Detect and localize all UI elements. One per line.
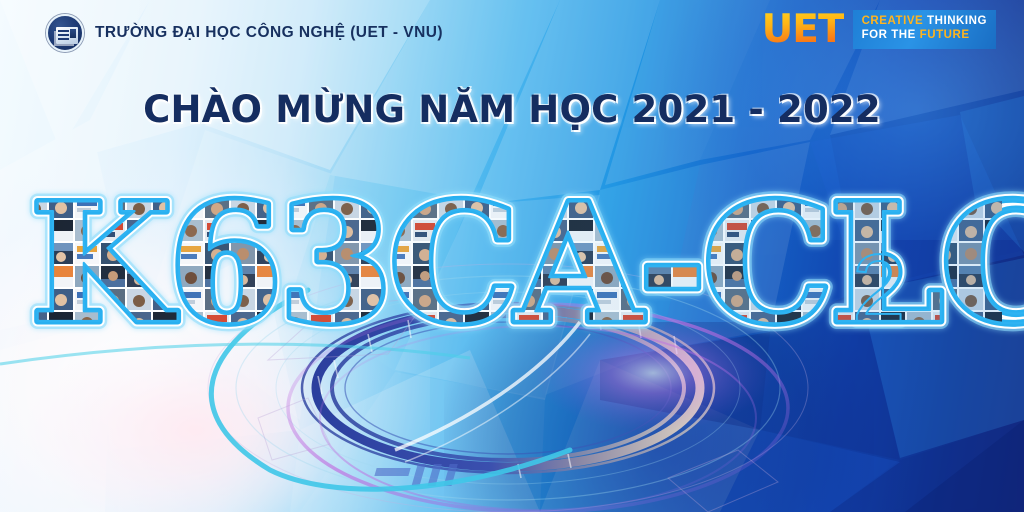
university-name: TRƯỜNG ĐẠI HỌC CÔNG NGHỆ (UET - VNU) — [95, 24, 443, 42]
welcome-title: CHÀO MỪNG NĂM HỌC 2021 - 2022 — [0, 88, 1024, 131]
uet-tagline-forthe: FOR THE — [862, 29, 916, 41]
welcome-banner: TRƯỜNG ĐẠI HỌC CÔNG NGHỆ (UET - VNU) UET… — [0, 0, 1024, 512]
uet-tagline-future: FUTURE — [920, 29, 970, 41]
university-seal-icon — [46, 14, 84, 52]
uet-tagline-line2: FOR THE FUTURE — [862, 29, 987, 43]
class-headline: K63CA-CLC 2 K63CA-CLC 2 K63CA-CLC 2 K63C… — [0, 178, 1024, 368]
headline-inner-edge: K63CA-CLC 2 — [30, 167, 1024, 360]
uet-tagline-thinking: THINKING — [927, 15, 987, 27]
svg-text:2: 2 — [852, 235, 905, 342]
uet-logo: UET CREATIVE THINKING FOR THE FUTURE — [762, 10, 996, 49]
header-university: TRƯỜNG ĐẠI HỌC CÔNG NGHỆ (UET - VNU) — [46, 14, 443, 52]
uet-wordmark: UET — [762, 10, 844, 49]
uet-tagline-creative: CREATIVE — [862, 15, 924, 27]
uet-tagline-line1: CREATIVE THINKING — [862, 15, 987, 29]
uet-tagline-panel: CREATIVE THINKING FOR THE FUTURE — [853, 10, 996, 48]
